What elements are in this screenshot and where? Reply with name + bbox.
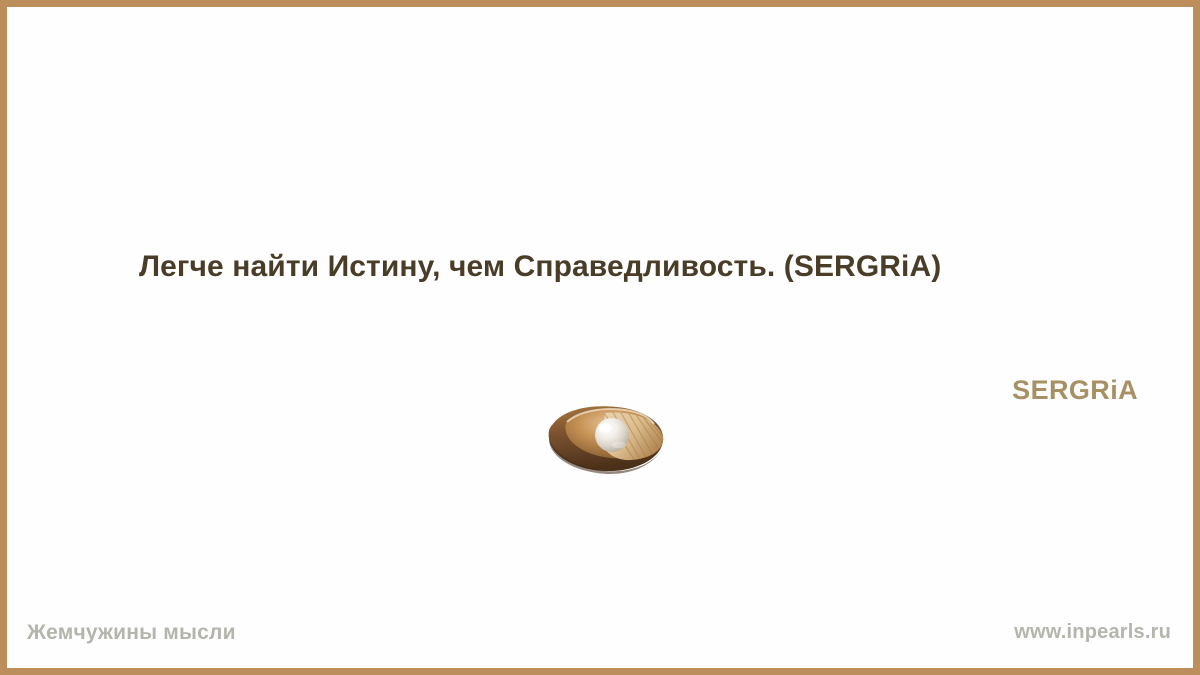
oyster-shell-with-pearl-icon [543,397,671,477]
quote-card: Легче найти Истину, чем Справедливость. … [0,0,1200,675]
quote-author: SERGRiA [1012,375,1138,406]
quote-text: Легче найти Истину, чем Справедливость. … [139,247,1089,286]
site-name-label: Жемчужины мысли [27,621,236,645]
site-url-link[interactable]: www.inpearls.ru [1014,621,1171,644]
